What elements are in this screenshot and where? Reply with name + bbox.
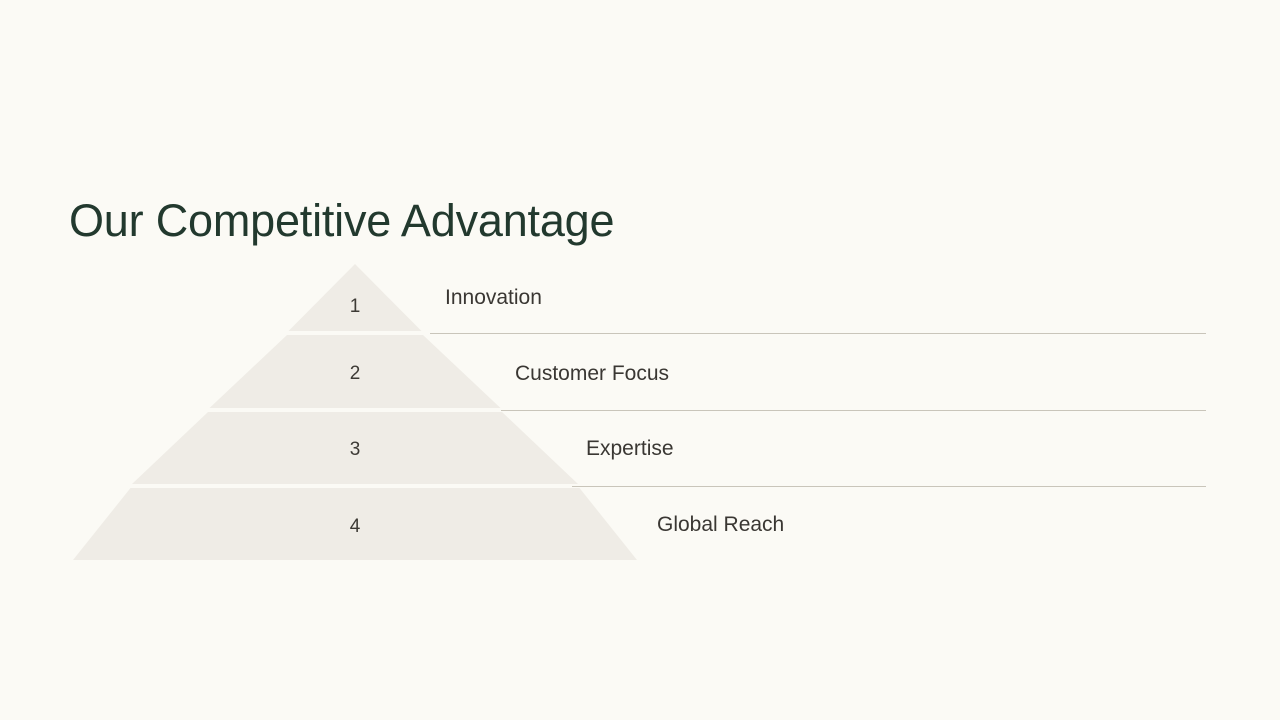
tier-divider-3	[572, 486, 1206, 487]
tier-number-2: 2	[325, 362, 385, 386]
tier-label-innovation: Innovation	[445, 284, 542, 312]
tier-divider-1	[430, 333, 1206, 334]
tier-label-customer-focus: Customer Focus	[515, 360, 669, 388]
tier-number-4: 4	[325, 515, 385, 539]
tier-label-global-reach: Global Reach	[657, 511, 784, 539]
tier-number-3: 3	[325, 438, 385, 462]
page-title: Our Competitive Advantage	[69, 190, 614, 252]
tier-number-1: 1	[325, 295, 385, 319]
tier-divider-2	[501, 410, 1206, 411]
slide-canvas: Our Competitive Advantage 1 Innovation 2…	[0, 0, 1280, 720]
tier-label-expertise: Expertise	[586, 435, 674, 463]
